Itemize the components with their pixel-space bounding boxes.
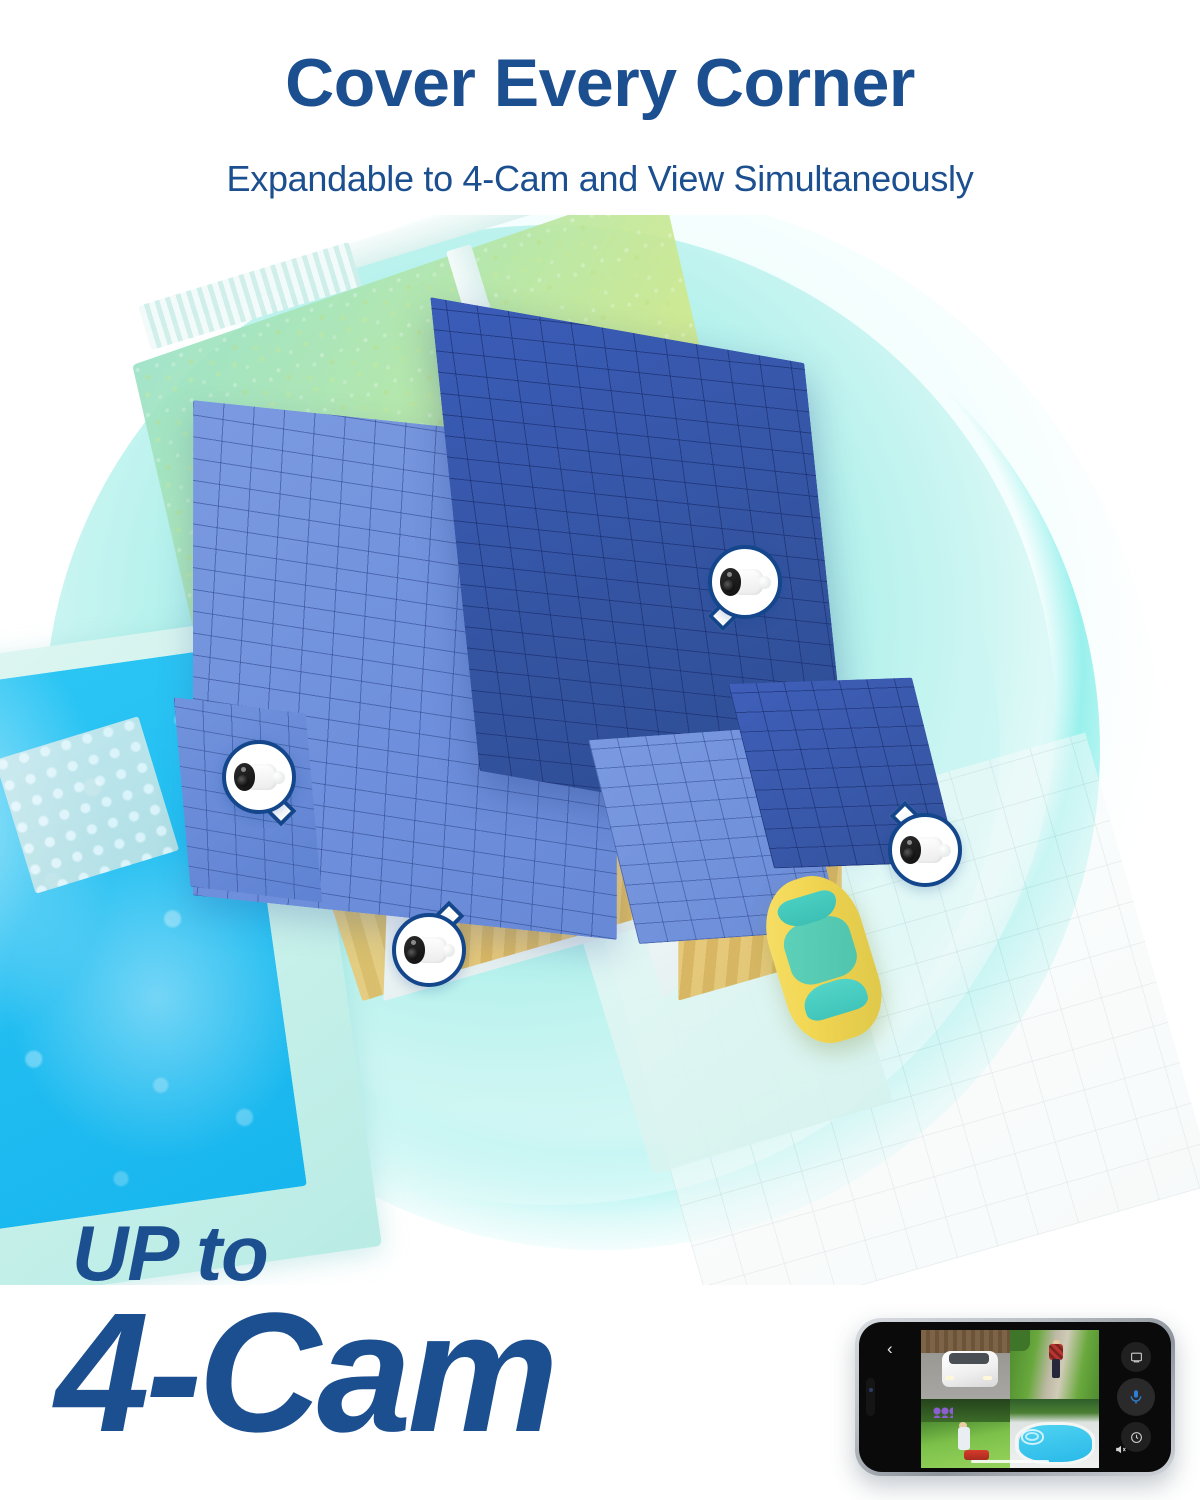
camera-bubble-circle [888, 813, 962, 887]
feed-mower-person [958, 1427, 970, 1450]
cam-count-label: 4-Cam [55, 1288, 555, 1458]
camera-marker-front-entry[interactable] [392, 913, 466, 987]
camera-mount [758, 576, 771, 589]
camera-marker-backyard-west[interactable] [222, 740, 296, 814]
security-camera-icon [720, 567, 770, 597]
feed-headlight-left [945, 1376, 954, 1381]
feed-driveway [921, 1330, 1010, 1399]
feed-person-shirt [1049, 1344, 1063, 1360]
camera-marker-roof-north[interactable] [708, 545, 782, 619]
home-indicator [971, 1460, 1049, 1463]
feed-flowerbed [933, 1407, 953, 1418]
camera-led [907, 840, 912, 845]
microphone-icon[interactable] [1117, 1378, 1155, 1416]
page-title: Cover Every Corner [0, 48, 1200, 119]
snapshot-icon[interactable] [1121, 1342, 1151, 1372]
phone-frame: ‹ [855, 1318, 1175, 1476]
camera-mount [442, 944, 455, 957]
feed-back-lawn [921, 1399, 1010, 1468]
camera-grid [921, 1330, 1099, 1468]
camera-mount [938, 844, 951, 857]
camera-bubble-circle [392, 913, 466, 987]
back-icon[interactable]: ‹ [887, 1340, 893, 1357]
security-camera-icon [404, 935, 454, 965]
camera-marker-driveway-east[interactable] [888, 813, 962, 887]
camera-bubble-circle [708, 545, 782, 619]
camera-feed-tile[interactable] [1010, 1399, 1099, 1468]
house-coverage-scene [0, 215, 1200, 1285]
camera-led [411, 940, 416, 945]
feed-person-legs [1052, 1359, 1060, 1378]
camera-lens [407, 948, 419, 960]
camera-feed-tile[interactable] [921, 1330, 1010, 1399]
marketing-banner: Cover Every Corner Expandable to 4-Cam a… [0, 0, 1200, 1500]
security-camera-icon [234, 762, 284, 792]
camera-mount [272, 771, 285, 784]
dynamic-island [866, 1378, 875, 1416]
camera-lens [237, 775, 249, 787]
feed-pool [1010, 1399, 1099, 1468]
feed-side-path [1010, 1330, 1099, 1399]
camera-bubble-circle [222, 740, 296, 814]
camera-led [241, 767, 246, 772]
feed-shrub [1010, 1330, 1030, 1351]
security-camera-icon [900, 835, 950, 865]
phone-screen: ‹ [859, 1322, 1171, 1472]
feed-fence [921, 1330, 1010, 1353]
page-subtitle: Expandable to 4-Cam and View Simultaneou… [0, 158, 1200, 200]
camera-lens [903, 848, 915, 860]
feed-vehicle-window [949, 1353, 988, 1364]
camera-feed-tile[interactable] [921, 1399, 1010, 1468]
camera-lens [723, 580, 735, 592]
phone-mockup: ‹ [855, 1318, 1175, 1476]
camera-led [727, 572, 732, 577]
feed-person [1049, 1340, 1063, 1379]
camera-feed-tile[interactable] [1010, 1330, 1099, 1399]
feed-lawnmower [964, 1450, 989, 1460]
speaker-icon[interactable] [1114, 1443, 1127, 1456]
feed-headlight-right [983, 1376, 992, 1381]
